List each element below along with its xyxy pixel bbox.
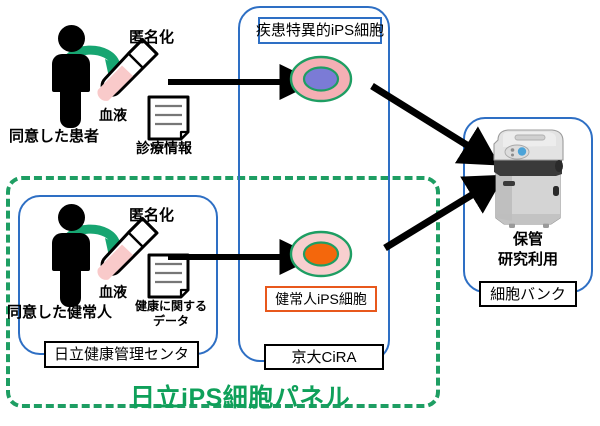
research-use-label: 研究利用 <box>477 252 579 269</box>
health-data-label-line1: 健康に関する <box>133 300 209 313</box>
person-silhouette-patient <box>47 25 93 128</box>
anonymize-label-bottom: 匿名化 <box>129 208 174 225</box>
storage-label: 保管 <box>477 232 579 249</box>
kyoto-cira-plate: 京大CiRA <box>264 344 384 370</box>
hitachi-health-center-plate: 日立健康管理センタ <box>44 341 199 368</box>
cell-bank-plate: 細胞バンク <box>479 281 577 307</box>
health-data-label-line2: データ <box>133 315 209 328</box>
medical-record-label: 診療情報 <box>136 141 192 157</box>
healthy-ips-cell-plate: 健常人iPS細胞 <box>265 286 377 312</box>
blood-tube-top <box>98 40 157 101</box>
blood-label-bottom: 血液 <box>99 285 127 301</box>
consented-patient-label: 同意した患者 <box>9 129 99 146</box>
diagram-canvas: 匿名化 血液 同意した患者 診療情報 匿名化 血液 同意した健常人 健康に関する… <box>0 0 600 426</box>
consented-healthy-person-label: 同意した健常人 <box>7 305 112 322</box>
blood-label-top: 血液 <box>99 108 127 124</box>
hitachi-ips-panel-title: 日立iPS細胞パネル <box>130 378 350 414</box>
person-silhouette-healthy <box>47 204 93 307</box>
document-icon-top <box>149 97 188 139</box>
anonymize-label-top: 匿名化 <box>129 30 174 47</box>
disease-specific-ips-cell-plate: 疾患特異的iPS細胞 <box>258 17 382 44</box>
